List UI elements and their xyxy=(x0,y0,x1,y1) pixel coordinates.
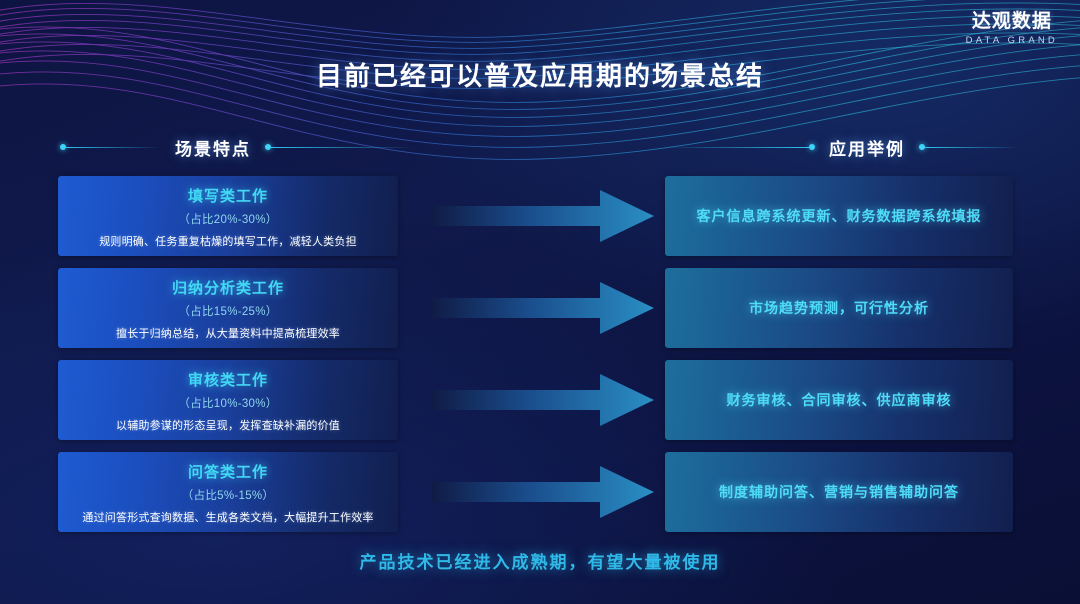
scenario-percent: （占比15%-25%） xyxy=(178,303,277,319)
column-header-left-label: 场景特点 xyxy=(161,135,265,160)
divider-line xyxy=(925,147,1020,148)
scenario-percent: （占比5%-15%） xyxy=(182,487,274,503)
divider-line xyxy=(271,147,415,148)
scenario-title: 归纳分析类工作 xyxy=(172,277,284,298)
brand-name-cn: 达观数据 xyxy=(966,12,1058,31)
example-text: 财务审核、合同审核、供应商审核 xyxy=(727,390,952,410)
example-card-1[interactable]: 客户信息跨系统更新、财务数据跨系统填报 xyxy=(665,176,1013,256)
scenario-percent: （占比20%-30%） xyxy=(178,211,277,227)
page-title: 目前已经可以普及应用期的场景总结 xyxy=(0,56,1080,93)
example-text: 制度辅助问答、营销与销售辅助问答 xyxy=(719,482,959,502)
example-card-4[interactable]: 制度辅助问答、营销与销售辅助问答 xyxy=(665,452,1013,532)
scenario-description: 规则明确、任务重复枯燥的填写工作，减轻人类负担 xyxy=(99,233,357,249)
scenario-title: 填写类工作 xyxy=(188,185,268,206)
slide-canvas: 达观数据 DATA GRAND 目前已经可以普及应用期的场景总结 场景特点 应用… xyxy=(0,0,1080,604)
divider-line xyxy=(665,147,809,148)
arrow-icon-1 xyxy=(432,188,654,244)
scenario-card-3[interactable]: 审核类工作 （占比10%-30%） 以辅助参谋的形态呈现，发挥查缺补漏的价值 xyxy=(58,360,398,440)
arrow-icon-3 xyxy=(432,372,654,428)
scenario-percent: （占比10%-30%） xyxy=(178,395,277,411)
scenario-description: 通过问答形式查询数据、生成各类文档，大幅提升工作效率 xyxy=(82,509,373,525)
example-text: 客户信息跨系统更新、财务数据跨系统填报 xyxy=(697,206,982,226)
footer-caption: 产品技术已经进入成熟期，有望大量被使用 xyxy=(0,548,1080,573)
example-card-3[interactable]: 财务审核、合同审核、供应商审核 xyxy=(665,360,1013,440)
scenario-description: 以辅助参谋的形态呈现，发挥查缺补漏的价值 xyxy=(116,417,340,433)
column-header-right-label: 应用举例 xyxy=(815,135,919,160)
scenario-title: 审核类工作 xyxy=(188,369,268,390)
column-header-left: 场景特点 xyxy=(60,136,415,158)
scenario-card-4[interactable]: 问答类工作 （占比5%-15%） 通过问答形式查询数据、生成各类文档，大幅提升工… xyxy=(58,452,398,532)
brand-logo: 达观数据 DATA GRAND xyxy=(966,12,1058,46)
example-card-2[interactable]: 市场趋势预测，可行性分析 xyxy=(665,268,1013,348)
scenario-card-1[interactable]: 填写类工作 （占比20%-30%） 规则明确、任务重复枯燥的填写工作，减轻人类负… xyxy=(58,176,398,256)
column-header-right: 应用举例 xyxy=(665,136,1020,158)
scenario-card-2[interactable]: 归纳分析类工作 （占比15%-25%） 擅长于归纳总结，从大量资料中提高梳理效率 xyxy=(58,268,398,348)
divider-line xyxy=(66,147,161,148)
arrow-icon-4 xyxy=(432,464,654,520)
scenario-description: 擅长于归纳总结，从大量资料中提高梳理效率 xyxy=(116,325,340,341)
arrow-icon-2 xyxy=(432,280,654,336)
example-text: 市场趋势预测，可行性分析 xyxy=(749,298,929,318)
brand-name-en: DATA GRAND xyxy=(966,36,1058,46)
scenario-title: 问答类工作 xyxy=(188,461,268,482)
